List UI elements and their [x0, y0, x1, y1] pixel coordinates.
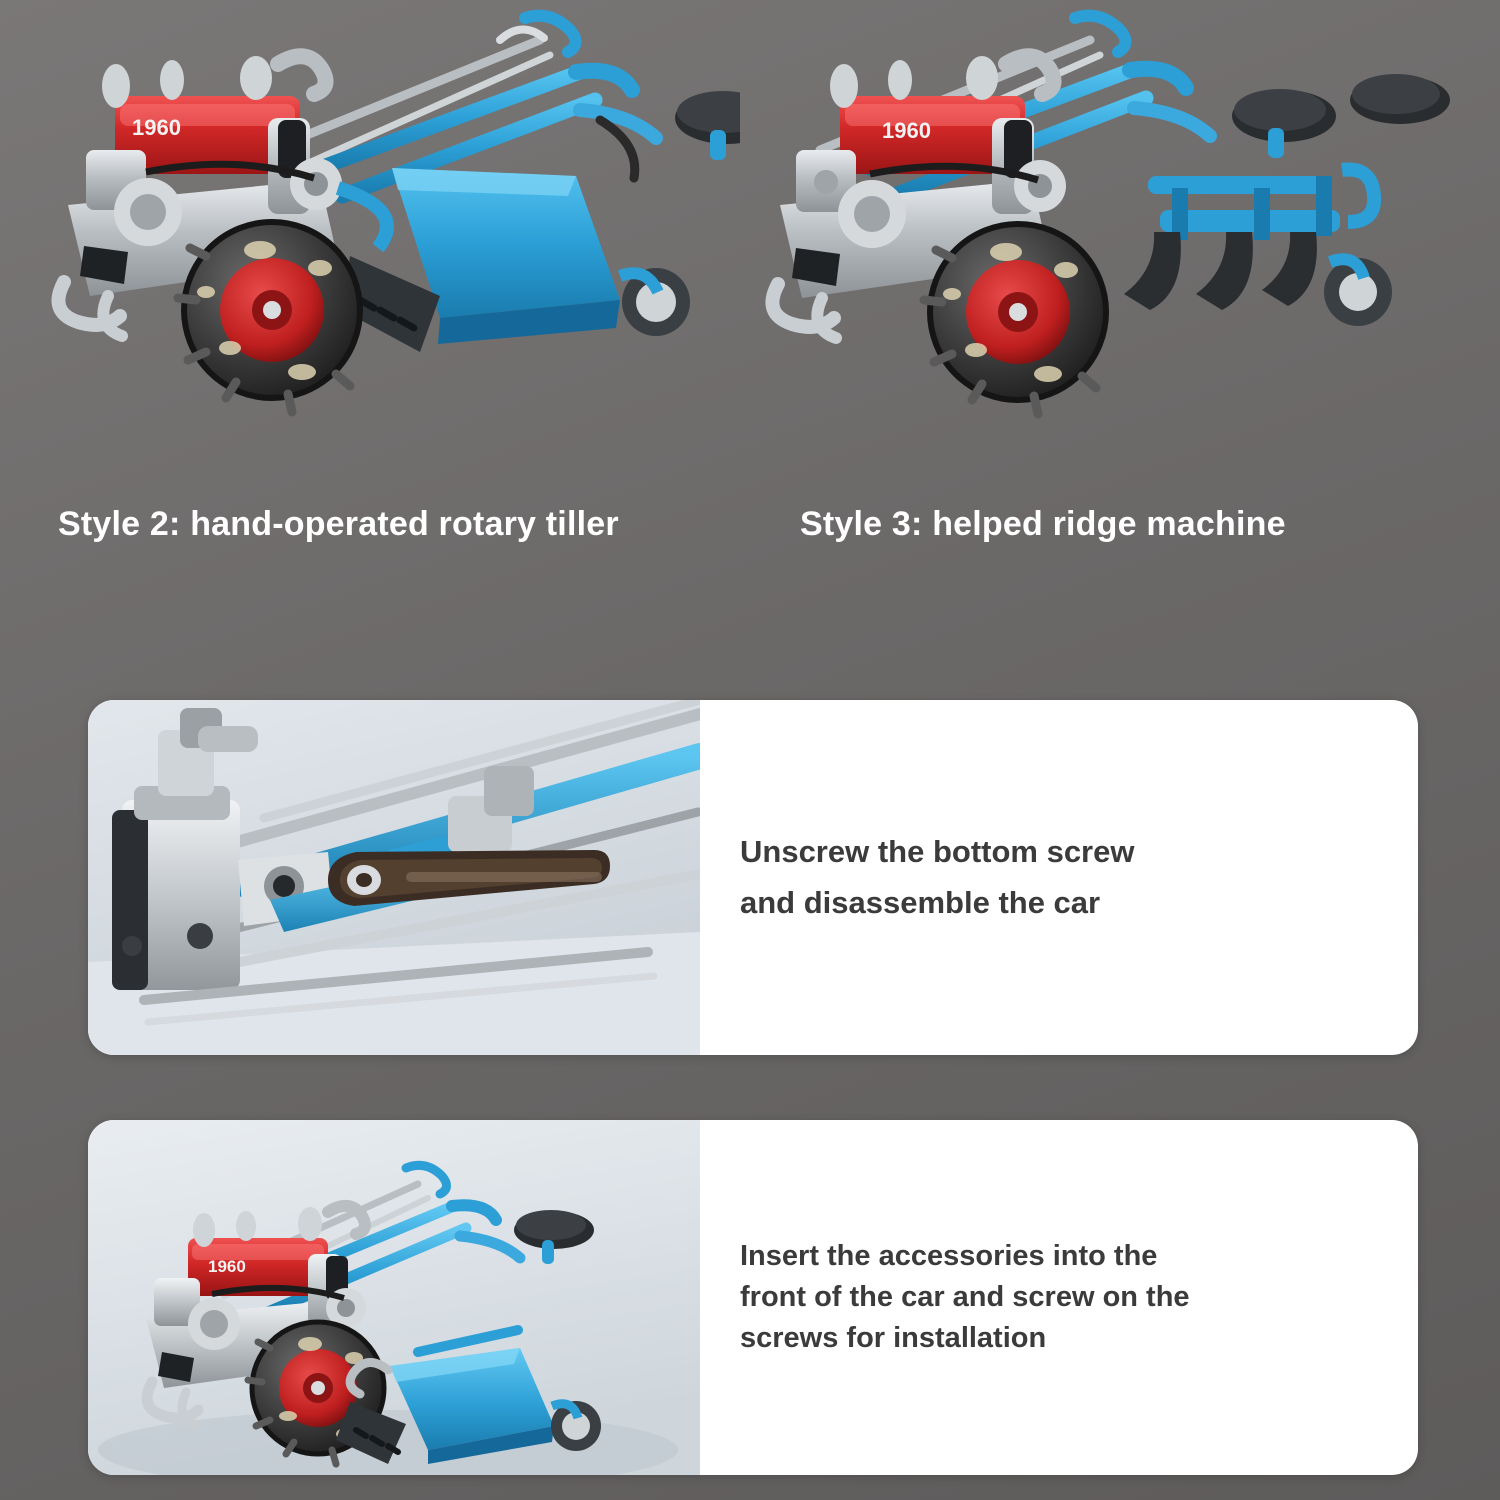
panel-1-line-2: and disassemble the car — [740, 878, 1382, 928]
accessory-installation-photo: 1960 — [88, 1120, 700, 1475]
engine-label-left: 1960 — [132, 115, 181, 140]
handlebar-assembly — [270, 16, 740, 196]
product-photo-ridge-machine: 1960 — [760, 0, 1480, 470]
caption-style-2: Style 2: hand-operated rotary tiller — [58, 505, 619, 544]
drive-wheel-right — [924, 224, 1106, 414]
panel-2-line-2: front of the car and screw on the — [740, 1277, 1382, 1318]
panel-1-line-1: Unscrew the bottom screw — [740, 827, 1382, 877]
closeup-bottom-screw-photo — [88, 700, 700, 1055]
product-photo-rotary-tiller: 1960 — [20, 0, 740, 470]
instruction-panel-2: 1960 — [88, 1120, 1418, 1475]
engine-label-right: 1960 — [882, 118, 931, 143]
panel-2-line-1: Insert the accessories into the — [740, 1236, 1382, 1277]
ridge-machine-illustration: 1960 — [760, 0, 1480, 470]
panel-2-line-3: screws for installation — [740, 1318, 1382, 1359]
instruction-panel-1: Unscrew the bottom screw and disassemble… — [88, 700, 1418, 1055]
rotary-tiller-illustration: 1960 — [20, 0, 740, 470]
panel-2-text: Insert the accessories into the front of… — [700, 1120, 1418, 1475]
caption-style-3: Style 3: helped ridge machine — [800, 505, 1286, 544]
panel-1-text: Unscrew the bottom screw and disassemble… — [700, 700, 1418, 1055]
rotary-tiller-deck — [342, 168, 690, 352]
engine-label-panel2: 1960 — [208, 1257, 246, 1276]
accessory-installation-illustration: 1960 — [88, 1120, 700, 1475]
top-product-section: 1960 — [0, 0, 1500, 600]
page-background: 1960 — [0, 0, 1500, 1500]
drive-wheel-left — [178, 222, 360, 412]
closeup-screw-illustration — [88, 700, 700, 1055]
